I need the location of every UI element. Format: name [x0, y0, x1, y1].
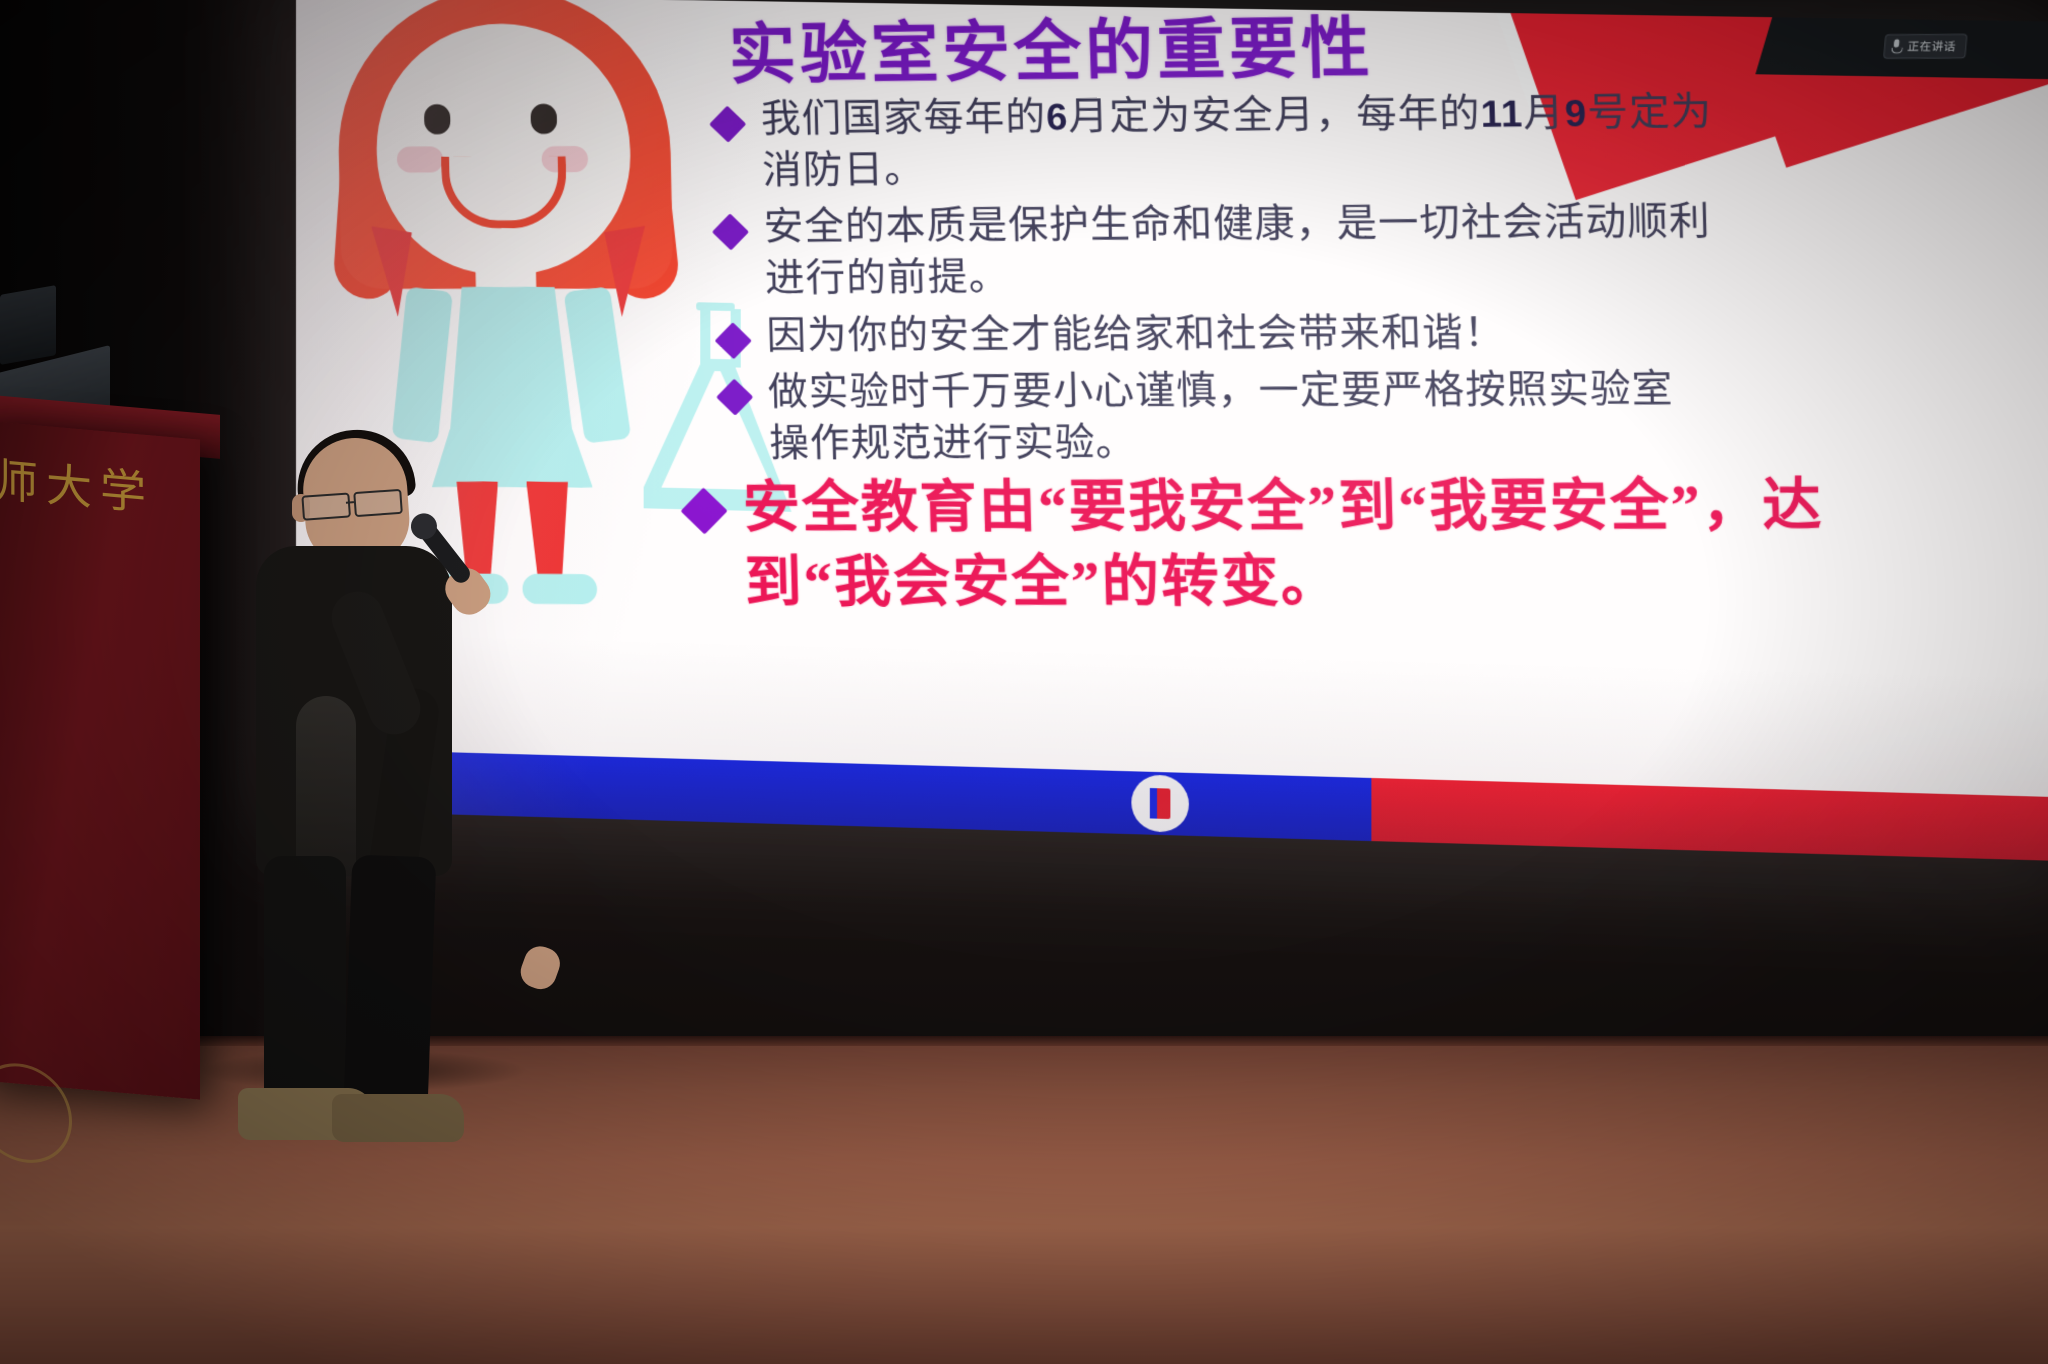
bullet-item: 安全的本质是保护生命和健康，是一切社会活动顺利进行的前提。 — [717, 195, 2011, 305]
lecture-hall-photo: 正在讲话 — [0, 0, 2048, 1364]
bullet-2-line1: 安全的本质是保护生命和健康，是一切社会活动顺利 — [763, 200, 1711, 249]
bullet-4-line1: 做实验时千万要小心谨慎，一定要严格按照实验室 — [767, 368, 1673, 415]
emphasis-text: 安全教育由“要我安全”到“我要安全”，达到“我会安全”的转变。 — [742, 469, 1826, 621]
diamond-bullet-icon — [680, 487, 727, 534]
arm-left — [392, 287, 453, 444]
leg-left — [264, 856, 346, 1106]
bullet-2-line2: 进行的前提。 — [765, 256, 1010, 301]
slide-title: 实验室安全的重要性 — [727, 0, 1655, 98]
emphasis-line1: 安全教育由“要我安全”到“我要安全”，达 — [742, 474, 1824, 539]
leg-right — [344, 855, 437, 1108]
bullet-item: 因为你的安全才能给家和社会带来和谐！ — [719, 306, 2012, 363]
bullet-1-bold-6: 6 — [1046, 96, 1069, 138]
recording-status-badge: 正在讲话 — [1883, 34, 1967, 59]
eye-right — [530, 104, 557, 134]
diamond-bullet-icon — [712, 214, 749, 251]
bullet-text: 因为你的安全才能给家和社会带来和谐！ — [766, 308, 1506, 362]
slide-bullet-list: 我们国家每年的6月定为安全月，每年的11月9号定为消防日。 安全的本质是保护生命… — [714, 85, 2016, 477]
bullet-text: 安全的本质是保护生命和健康，是一切社会活动顺利进行的前提。 — [763, 197, 1713, 305]
recording-status-label: 正在讲话 — [1907, 38, 1957, 55]
school-emblem-icon — [1131, 774, 1189, 832]
bullet-4-line2: 操作规范进行实验。 — [769, 421, 1137, 465]
projection-screen: 正在讲话 — [296, 0, 2048, 861]
eye-left — [424, 104, 451, 134]
bullet-1-seg4: 号定为 — [1587, 90, 1713, 135]
speaker — [230, 438, 530, 1078]
bullet-1-seg1: 我们国家每年的 — [761, 95, 1047, 141]
slide-surface: 正在讲话 — [296, 0, 2048, 861]
bullet-1-seg3: 月 — [1523, 91, 1566, 135]
bullet-item: 我们国家每年的6月定为安全月，每年的11月9号定为消防日。 — [714, 85, 2008, 197]
bullet-item: 做实验时千万要小心谨慎，一定要严格按照实验室操作规范进行实验。 — [721, 364, 2016, 471]
microphone-icon — [1891, 39, 1902, 53]
bullet-text: 我们国家每年的6月定为安全月，每年的11月9号定为消防日。 — [760, 87, 1714, 197]
speaker-legs — [260, 856, 450, 1106]
diamond-bullet-icon — [716, 379, 753, 416]
leg-right — [526, 481, 572, 580]
podium-monitor — [0, 285, 56, 365]
diamond-bullet-icon — [715, 322, 752, 359]
emphasis-bullet: 安全教育由“要我安全”到“我要安全”，达到“我会安全”的转变。 — [686, 469, 2044, 622]
shoe-right — [522, 574, 597, 604]
bullet-1-seg2: 月定为安全月，每年的 — [1068, 92, 1481, 139]
emphasis-line2: 到“我会安全”的转变。 — [744, 551, 1341, 614]
cheek-left — [397, 146, 444, 172]
shoe-right — [332, 1094, 464, 1142]
bullet-1-line2: 消防日。 — [762, 148, 926, 192]
bullet-text: 做实验时千万要小心谨慎，一定要严格按照实验室操作规范进行实验。 — [767, 365, 1675, 470]
diamond-bullet-icon — [709, 106, 746, 143]
bullet-1-bold-9: 9 — [1564, 92, 1588, 134]
bullet-1-bold-11: 11 — [1480, 93, 1524, 135]
